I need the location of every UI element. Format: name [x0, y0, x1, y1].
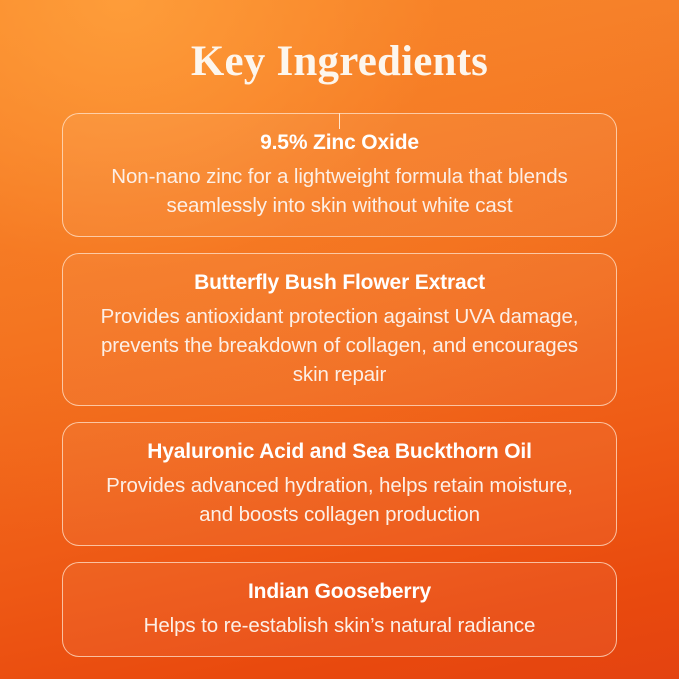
ingredient-card-wrapper: Butterfly Bush Flower Extract Provides a… [62, 253, 617, 406]
card-gap [62, 406, 617, 422]
card-gap [62, 546, 617, 562]
ingredient-description: Provides antioxidant protection against … [89, 302, 590, 389]
ingredient-heading: 9.5% Zinc Oxide [89, 128, 590, 158]
ingredient-card-wrapper: Hyaluronic Acid and Sea Buckthorn Oil Pr… [62, 422, 617, 546]
ingredient-heading: Hyaluronic Acid and Sea Buckthorn Oil [89, 437, 590, 467]
ingredient-description: Non-nano zinc for a lightweight formula … [89, 162, 590, 220]
ingredient-card[interactable]: Hyaluronic Acid and Sea Buckthorn Oil Pr… [62, 422, 617, 546]
page-title: Key Ingredients [0, 36, 679, 88]
ingredient-card-wrapper: Indian Gooseberry Helps to re-establish … [62, 562, 617, 657]
ingredient-heading: Butterfly Bush Flower Extract [89, 268, 590, 298]
card-connector-line [339, 113, 340, 129]
key-ingredients-poster: Key Ingredients 9.5% Zinc Oxide Non-nano… [0, 0, 679, 679]
ingredient-description: Helps to re-establish skin’s natural rad… [89, 611, 590, 640]
ingredient-card[interactable]: 9.5% Zinc Oxide Non-nano zinc for a ligh… [62, 113, 617, 237]
ingredient-card-wrapper: 9.5% Zinc Oxide Non-nano zinc for a ligh… [62, 113, 617, 237]
ingredient-card[interactable]: Butterfly Bush Flower Extract Provides a… [62, 253, 617, 406]
ingredient-card[interactable]: Indian Gooseberry Helps to re-establish … [62, 562, 617, 657]
ingredient-card-list: 9.5% Zinc Oxide Non-nano zinc for a ligh… [62, 113, 617, 657]
ingredient-description: Provides advanced hydration, helps retai… [89, 471, 590, 529]
ingredient-heading: Indian Gooseberry [89, 577, 590, 607]
card-gap [62, 237, 617, 253]
